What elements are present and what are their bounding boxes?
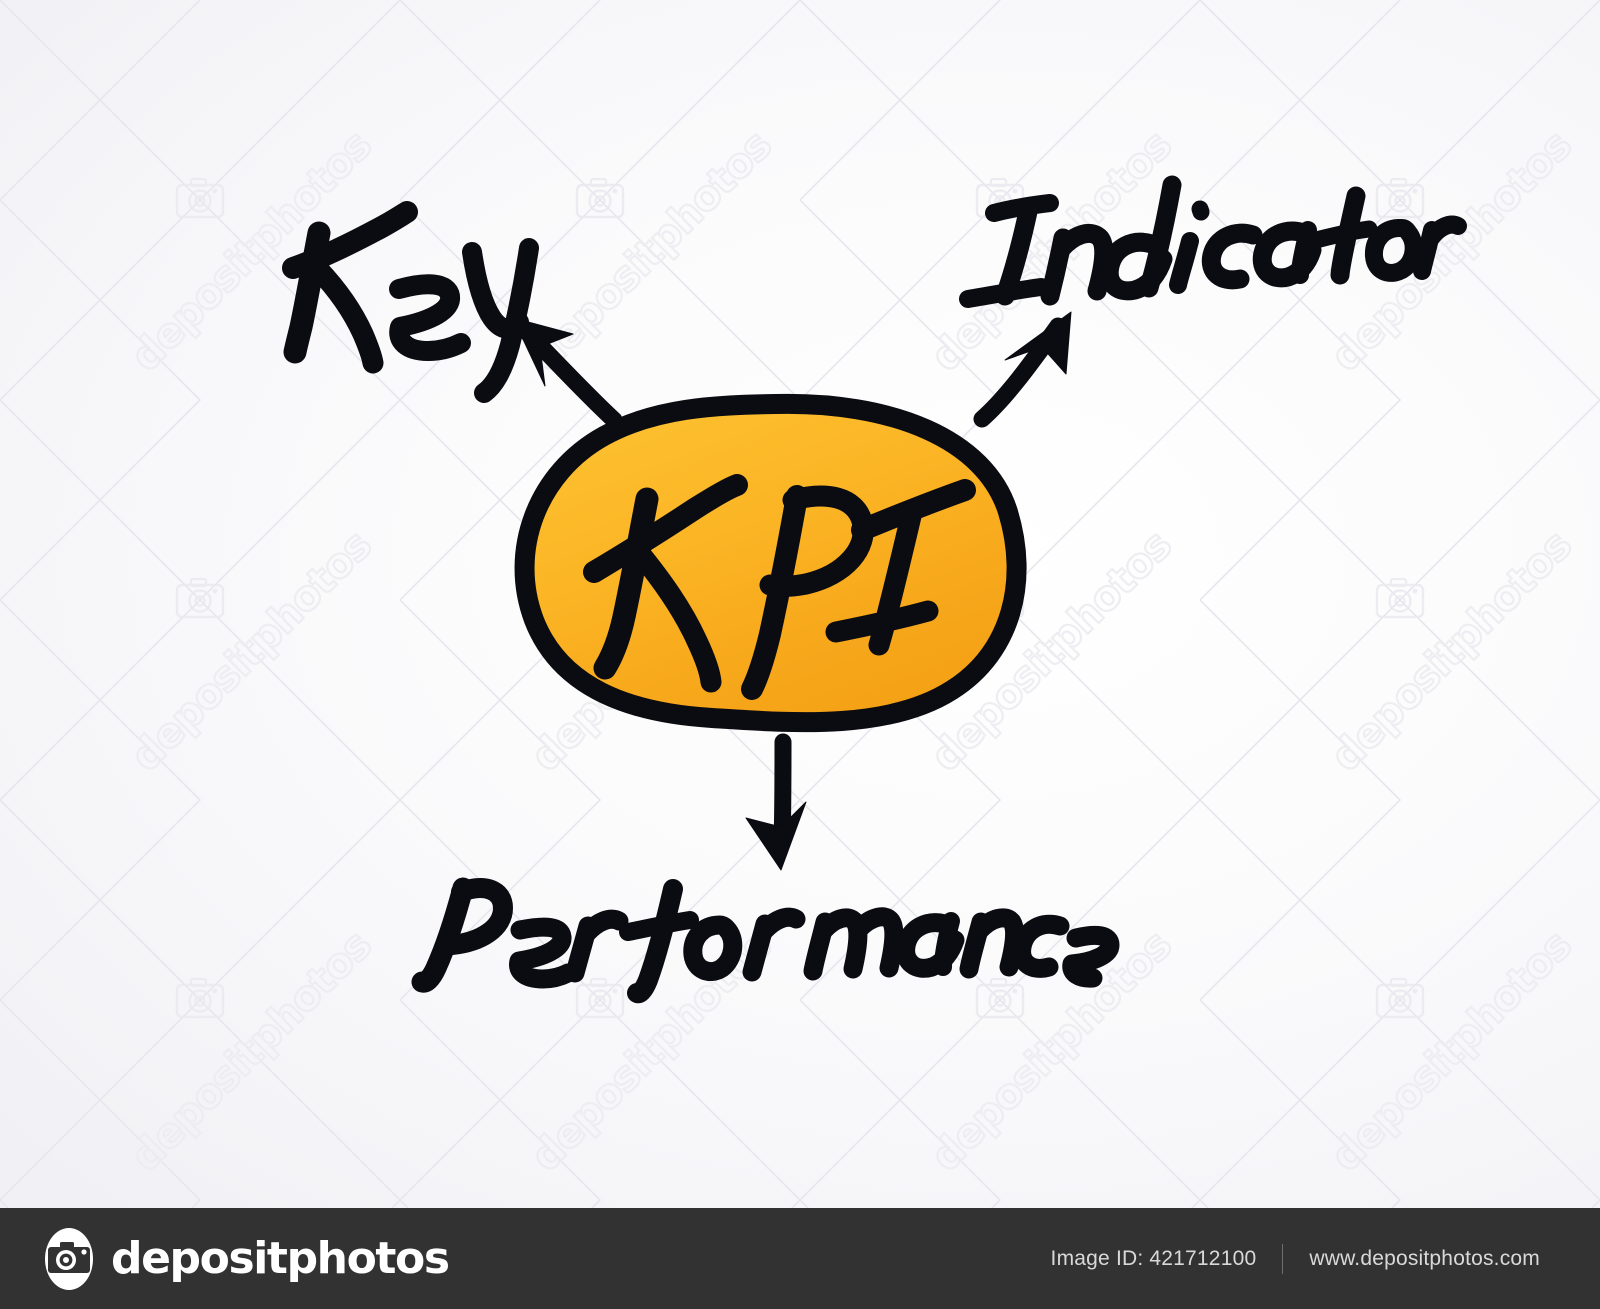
image-id-label: Image ID: 421712100 (1025, 1247, 1283, 1271)
footer-meta: Image ID: 421712100 www.depositphotos.co… (1025, 1244, 1566, 1274)
kpi-diagram (0, 0, 1600, 1208)
kpi-center-node[interactable] (525, 404, 1017, 722)
arrow-up-left (513, 318, 614, 420)
camera-icon (40, 1227, 98, 1291)
branch-label-key[interactable] (293, 212, 529, 393)
arrow-down (746, 742, 806, 870)
brand-name: depositphotos (111, 1237, 449, 1281)
branch-label-indicator[interactable] (968, 185, 1458, 299)
arrow-up-right (982, 312, 1071, 419)
stock-footer-bar: depositphotos Image ID: 421712100 www.de… (0, 1208, 1600, 1309)
branch-label-performance[interactable] (422, 888, 1110, 993)
screenshot-root: depositphotos (0, 0, 1600, 1309)
depositphotos-brand[interactable]: depositphotos (40, 1227, 449, 1291)
website-link[interactable]: www.depositphotos.com (1283, 1247, 1566, 1271)
diagram-canvas: depositphotos (0, 0, 1600, 1208)
